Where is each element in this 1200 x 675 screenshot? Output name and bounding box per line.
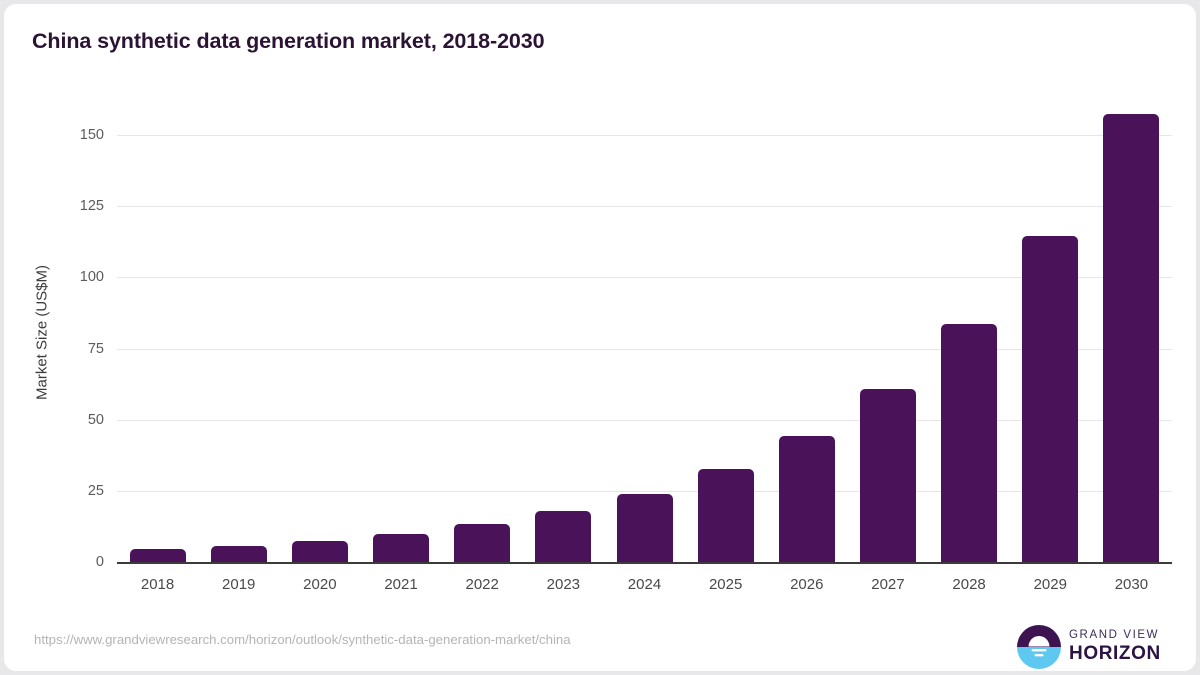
bar[interactable]	[1022, 236, 1078, 562]
y-axis-tick-label: 125	[44, 198, 104, 214]
bar[interactable]	[130, 549, 186, 562]
x-axis-tick-label: 2023	[523, 576, 604, 593]
bar[interactable]	[617, 494, 673, 562]
y-axis-tick-label: 75	[44, 341, 104, 357]
plot-area: Market Size (US$M) 0255075100125150 2018…	[4, 4, 1196, 671]
x-axis-tick-label: 2020	[279, 576, 360, 593]
bar[interactable]	[535, 511, 591, 562]
x-axis-tick-label: 2024	[604, 576, 685, 593]
horizon-circle-icon	[1017, 625, 1061, 669]
y-axis-tick-label: 150	[44, 127, 104, 143]
brand-logo[interactable]: GRAND VIEW HORIZON	[1017, 625, 1177, 670]
x-axis-tick-label: 2028	[929, 576, 1010, 593]
x-axis-tick-label: 2026	[766, 576, 847, 593]
bar[interactable]	[779, 436, 835, 562]
x-axis-tick-label: 2025	[685, 576, 766, 593]
y-axis-tick-label: 25	[44, 483, 104, 499]
x-axis-tick-label: 2027	[847, 576, 928, 593]
x-axis-tick-label: 2030	[1091, 576, 1172, 593]
y-axis-tick-label: 100	[44, 269, 104, 285]
source-url[interactable]: https://www.grandviewresearch.com/horizo…	[34, 632, 571, 647]
logo-wordmark: GRAND VIEW HORIZON	[1069, 628, 1161, 665]
x-axis-tick-label: 2021	[360, 576, 441, 593]
x-axis-tick-label: 2022	[442, 576, 523, 593]
chart-card: China synthetic data generation market, …	[4, 4, 1196, 671]
bar[interactable]	[698, 469, 754, 562]
bar[interactable]	[454, 524, 510, 562]
logo-line-2: HORIZON	[1069, 643, 1161, 665]
y-axis-tick-label: 0	[44, 554, 104, 570]
bar[interactable]	[941, 324, 997, 562]
bar[interactable]	[292, 541, 348, 562]
bar[interactable]	[373, 534, 429, 562]
bar[interactable]	[1103, 114, 1159, 562]
bar[interactable]	[211, 546, 267, 562]
bar[interactable]	[860, 389, 916, 562]
x-axis-tick-label: 2018	[117, 576, 198, 593]
logo-line-1: GRAND VIEW	[1069, 628, 1161, 643]
x-axis-tick-label: 2029	[1010, 576, 1091, 593]
y-axis-tick-label: 50	[44, 412, 104, 428]
bar-series	[117, 4, 1172, 671]
x-axis-tick-label: 2019	[198, 576, 279, 593]
